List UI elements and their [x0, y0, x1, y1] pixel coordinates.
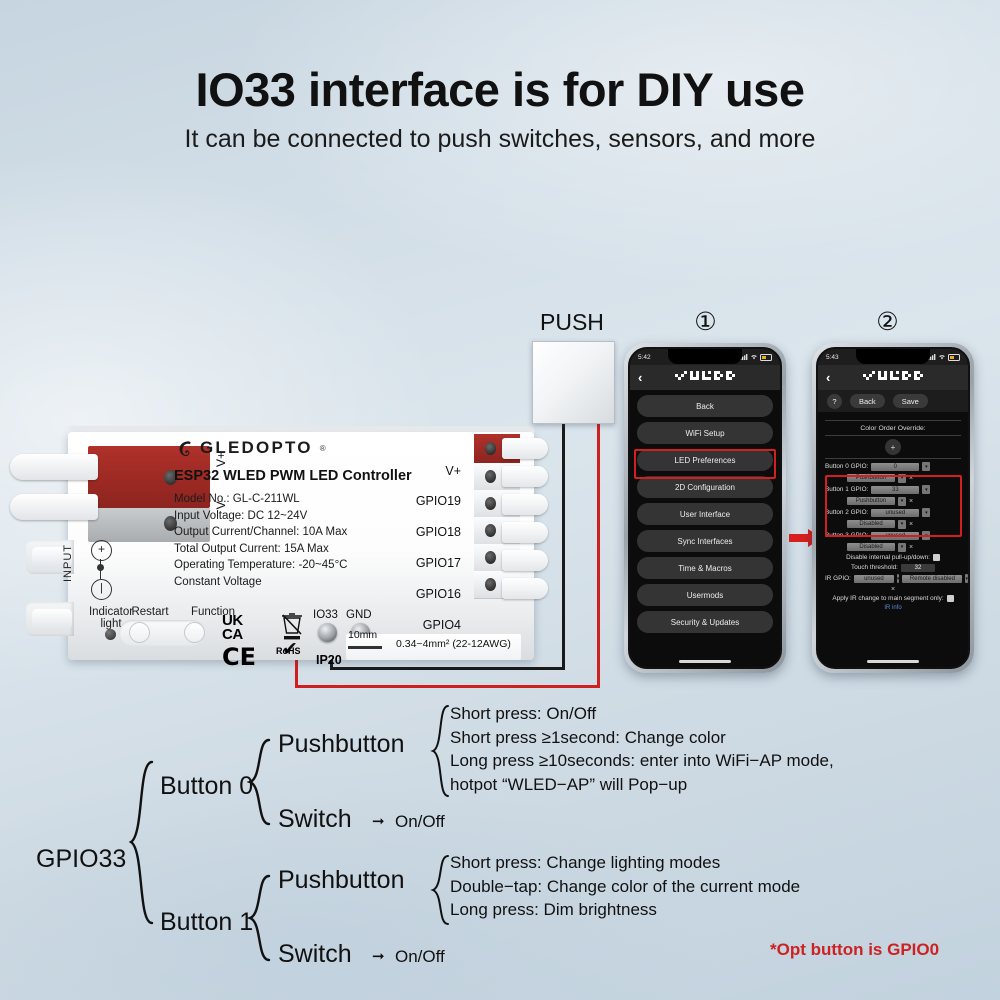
ir-gpio-value[interactable]: unused	[854, 575, 894, 583]
gauge-range-label: 0.34~4mm² (22-12AWG)	[396, 638, 511, 650]
diagram-button1-switch-label: Switch	[278, 940, 352, 969]
touch-threshold-label: Touch threshold:	[851, 564, 898, 571]
brace-root	[128, 760, 154, 925]
button0-behaviour-details: Short press: On/Off Short press ≥1second…	[450, 702, 834, 796]
output-label-gpio4: GPIO4	[376, 618, 461, 632]
output-lever[interactable]	[502, 466, 548, 487]
chevron-down-icon[interactable]: ▾	[922, 462, 930, 471]
rohs-mark: RoHS	[276, 646, 301, 656]
ir-main-segment-row: Apply IR change to main segment only:	[825, 595, 961, 602]
back-chevron-icon[interactable]: ‹	[826, 371, 830, 384]
button2-gpio-label: Button 2 GPIO:	[825, 509, 868, 516]
pullup-row: Disable internal pull-up/down:	[825, 554, 961, 561]
menu-item-user-interface[interactable]: User Interface	[637, 503, 773, 525]
phone2-notch	[856, 349, 930, 364]
arrow-icon: ➞	[372, 812, 385, 830]
button1-gpio-row: Button 1 GPIO: 33 ▾	[825, 485, 961, 494]
menu-item-time-macros[interactable]: Time & Macros	[637, 557, 773, 579]
button3-gpio-label: Button 3 GPIO:	[825, 532, 868, 539]
touch-threshold-value[interactable]: 32	[901, 564, 935, 572]
wled-wordmark-icon	[675, 371, 747, 384]
phone2-screen: 5:43 ‹	[816, 347, 970, 669]
diagram-button1-pushbutton-label: Pushbutton	[278, 866, 405, 895]
wifi-icon	[750, 354, 758, 360]
chevron-down-icon[interactable]: ▾	[898, 497, 906, 506]
phone-screenshot-2: 5:43 ‹	[812, 343, 974, 673]
phone2-clock: 5:43	[826, 354, 839, 361]
function-button[interactable]	[184, 622, 205, 643]
output-label-gpio18: GPIO18	[376, 525, 461, 539]
phone2-status-icons	[928, 354, 960, 361]
phone1-home-indicator	[679, 660, 731, 663]
back-button[interactable]: Back	[850, 394, 885, 408]
output-lever[interactable]	[502, 550, 548, 571]
battery-icon	[948, 354, 960, 361]
pad-label-gnd: GND	[346, 609, 372, 621]
output-terminal-block	[474, 434, 546, 630]
restart-button-label: Restart	[122, 606, 178, 618]
gauge-scale-label: 10mm	[348, 629, 377, 641]
ir-gpio-row: IR GPIO: unused ▾ Remote disabled ▾	[825, 574, 961, 583]
diagram-button0-pushbutton-label: Pushbutton	[278, 730, 405, 759]
wled-logo	[837, 371, 960, 384]
wire-black	[562, 418, 565, 670]
ir-remove-icon[interactable]: ×	[891, 586, 895, 593]
button2-mode-row: Disabled ▾ ×	[825, 520, 961, 529]
phone2-action-bar: ? Back Save	[818, 390, 968, 412]
output-lever[interactable]	[502, 522, 548, 543]
output-lever[interactable]	[502, 494, 548, 515]
spec-line: Total Output Current: 15A Max	[174, 541, 347, 558]
output-lever[interactable]	[502, 578, 548, 599]
menu-item-back[interactable]: Back	[637, 395, 773, 417]
pad-label-io33: IO33	[313, 609, 338, 621]
spec-line: Input Voltage: DC 12~24V	[174, 508, 347, 525]
led-controller-device: V+ V- GLEDOPTO ® ESP32 WLED PWM LED Cont…	[26, 424, 546, 669]
chevron-down-icon[interactable]: ▾	[965, 574, 968, 583]
step-number-1: ①	[692, 308, 719, 335]
pullup-label: Disable internal pull-up/down:	[846, 554, 930, 561]
chevron-down-icon[interactable]: ▾	[898, 474, 906, 483]
menu-item-security-updates[interactable]: Security & Updates	[637, 611, 773, 633]
diagram-button1-switch-action: On/Off	[395, 947, 445, 967]
page-subtitle: It can be connected to push switches, se…	[0, 125, 1000, 154]
ip-rating: IP20	[316, 653, 342, 667]
chevron-down-icon[interactable]: ▾	[897, 574, 900, 583]
ir-remote-value[interactable]: Remote disabled	[902, 575, 962, 583]
diagram-button0-label: Button 0	[160, 772, 253, 801]
phone1-status-icons	[740, 354, 772, 361]
ce-mark: CE	[222, 646, 256, 668]
step-number-2: ②	[874, 308, 901, 335]
brace-button1-details	[430, 854, 450, 926]
gledopto-logo-icon	[174, 439, 193, 458]
product-name: ESP32 WLED PWM LED Controller	[174, 468, 412, 484]
menu-item-sync-interfaces[interactable]: Sync Interfaces	[637, 530, 773, 552]
push-switch[interactable]	[532, 341, 615, 424]
chevron-down-icon[interactable]: ▾	[922, 508, 930, 517]
brace-button0	[247, 738, 271, 826]
chevron-down-icon[interactable]: ▾	[922, 485, 930, 494]
chevron-down-icon[interactable]: ▾	[898, 543, 906, 552]
phone1-screen: 5:42 ‹	[628, 347, 782, 669]
button0-gpio-row: Button 0 GPIO: 0 ▾	[825, 462, 961, 471]
button0-gpio-value[interactable]: 0	[871, 463, 919, 471]
chevron-down-icon[interactable]: ▾	[922, 531, 930, 540]
wled-logo	[649, 371, 772, 384]
input-label: INPUT	[62, 544, 74, 582]
gauge-scale-bar	[348, 646, 382, 649]
battery-icon	[760, 354, 772, 361]
diagram-button0-switch-action: On/Off	[395, 812, 445, 832]
diagram-root-label: GPIO33	[36, 845, 126, 874]
wled-wordmark-icon	[863, 371, 935, 384]
menu-item-usermods[interactable]: Usermods	[637, 584, 773, 606]
spec-line: Model No.: GL-C-211WL	[174, 491, 347, 508]
mount-clip-bottom	[26, 602, 74, 636]
spec-line: Constant Voltage	[174, 574, 347, 591]
phone-screenshot-1: 5:42 ‹	[624, 343, 786, 673]
button3-mode-row: Disabled ▾ ×	[825, 543, 961, 552]
output-lever[interactable]	[502, 438, 548, 459]
brand-name: GLEDOPTO	[200, 438, 313, 458]
ir-main-segment-label: Apply IR change to main segment only:	[832, 595, 943, 602]
color-order-override-title: Color Order Override:	[825, 425, 961, 432]
phone1-clock: 5:42	[638, 354, 651, 361]
page-title: IO33 interface is for DIY use	[0, 62, 1000, 117]
chevron-down-icon[interactable]: ▾	[898, 520, 906, 529]
spec-line: Output Current/Channel: 10A Max	[174, 524, 347, 541]
button3-gpio-value[interactable]: unused	[871, 532, 919, 540]
brand-lockup: GLEDOPTO ®	[174, 438, 326, 458]
brace-button1	[247, 874, 271, 962]
button3-remove-icon[interactable]: ×	[909, 544, 913, 551]
menu-item-wifi-setup[interactable]: WiFi Setup	[637, 422, 773, 444]
infographic-root: IO33 interface is for DIY use It can be …	[0, 0, 1000, 1000]
output-label-gpio16: GPIO16	[376, 587, 461, 601]
wire-red	[597, 418, 600, 688]
button0-gpio-label: Button 0 GPIO:	[825, 463, 868, 470]
phone1-menu: Back WiFi Setup LED Preferences 2D Confi…	[630, 390, 780, 638]
button1-remove-icon[interactable]: ×	[909, 498, 913, 505]
pullup-checkbox[interactable]	[933, 554, 940, 561]
button2-gpio-row: Button 2 GPIO: unused ▾	[825, 508, 961, 517]
button2-gpio-value[interactable]: unused	[871, 509, 919, 517]
add-color-order-button[interactable]: +	[885, 439, 901, 455]
ukca-mark: UKCA	[222, 614, 243, 642]
menu-item-led-preferences[interactable]: LED Preferences	[637, 449, 773, 471]
button0-mode-row: Pushbutton ▾ ×	[825, 474, 961, 483]
ir-remove-row: ×	[825, 586, 961, 593]
phone2-app-bar: ‹	[818, 365, 968, 390]
button3-mode-value[interactable]: Disabled	[847, 543, 895, 551]
terminal-lever-vplus[interactable]	[10, 454, 98, 480]
button1-gpio-value[interactable]: 33	[871, 486, 919, 494]
back-chevron-icon[interactable]: ‹	[638, 371, 642, 384]
footnote: *Opt button is GPIO0	[770, 940, 939, 960]
restart-button[interactable]	[129, 622, 150, 643]
polarity-symbol: + |	[88, 540, 114, 598]
help-button[interactable]: ?	[827, 394, 842, 409]
output-label-vplus: V+	[391, 464, 461, 478]
spec-line: Operating Temperature: -20~45°C	[174, 557, 347, 574]
ir-info-link[interactable]: IR info	[825, 605, 961, 611]
button1-mode-row: Pushbutton ▾ ×	[825, 497, 961, 506]
button0-remove-icon[interactable]: ×	[909, 475, 913, 482]
button3-gpio-row: Button 3 GPIO: unused ▾	[825, 531, 961, 540]
brand-registered-mark: ®	[320, 444, 326, 453]
button2-mode-value[interactable]: Disabled	[847, 520, 895, 528]
pad-io33[interactable]	[318, 623, 337, 642]
phone2-settings-body: Color Order Override: + Button 0 GPIO: 0…	[818, 412, 968, 611]
phone2-home-indicator	[867, 660, 919, 663]
diagram-button0-switch-label: Switch	[278, 805, 352, 834]
button1-gpio-label: Button 1 GPIO:	[825, 486, 868, 493]
button0-mode-value[interactable]: Pushbutton	[847, 474, 895, 482]
ir-gpio-label: IR GPIO:	[825, 575, 851, 582]
touch-threshold-row: Touch threshold: 32	[825, 564, 961, 572]
push-switch-label: PUSH	[540, 309, 604, 336]
spec-list: Model No.: GL-C-211WL Input Voltage: DC …	[174, 491, 347, 590]
arrow-icon: ➞	[372, 947, 385, 965]
output-label-gpio17: GPIO17	[376, 556, 461, 570]
wire-red-bend	[295, 685, 600, 688]
button1-mode-value[interactable]: Pushbutton	[847, 497, 895, 505]
brace-button0-details	[430, 704, 450, 798]
diagram-button1-label: Button 1	[160, 908, 253, 937]
save-button[interactable]: Save	[893, 394, 928, 408]
indicator-light	[105, 629, 116, 640]
menu-item-2d-configuration[interactable]: 2D Configuration	[637, 476, 773, 498]
terminal-lever-vminus[interactable]	[10, 494, 98, 520]
ir-main-segment-checkbox[interactable]	[947, 595, 954, 602]
phone1-notch	[668, 349, 742, 364]
output-label-gpio19: GPIO19	[376, 494, 461, 508]
wifi-icon	[938, 354, 946, 360]
phone1-app-bar: ‹	[630, 365, 780, 390]
button2-remove-icon[interactable]: ×	[909, 521, 913, 528]
button1-behaviour-details: Short press: Change lighting modes Doubl…	[450, 851, 800, 922]
